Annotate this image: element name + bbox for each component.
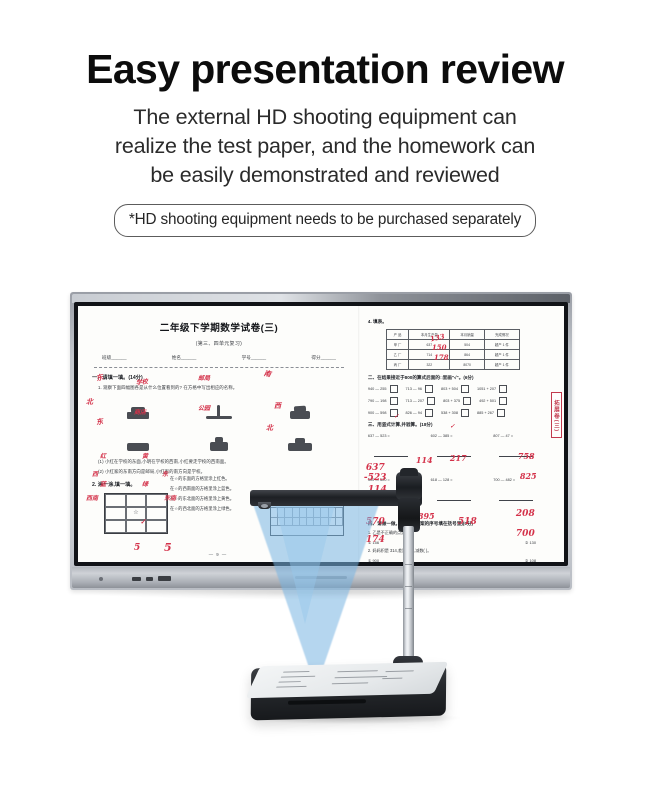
page-title: Easy presentation review: [0, 48, 650, 91]
camera-telescoping-pole[interactable]: [403, 526, 414, 664]
disclaimer-wrap: *HD shooting equipment needs to be purch…: [0, 204, 650, 237]
subtitle-line-3: be easily demonstrated and reviewed: [90, 161, 560, 190]
subtitle-block: The external HD shooting equipment can r…: [90, 103, 560, 189]
sheet-writing: [263, 664, 427, 694]
disclaimer-note: *HD shooting equipment needs to be purch…: [114, 204, 536, 237]
header-block: Easy presentation review The external HD…: [0, 0, 650, 237]
scanner-light-core: [275, 504, 335, 624]
camera-head: [396, 472, 422, 500]
pole-tick: [405, 564, 412, 565]
hd-document-camera: [0, 268, 650, 748]
camera-lens-icon: [258, 502, 271, 509]
pole-tick: [405, 608, 412, 609]
product-scene: 二年级下学期数学试卷(三) (第三、四单元复习) 班级______ 姓名____…: [0, 268, 650, 748]
subtitle-line-2: realize the test paper, and the homework…: [90, 132, 560, 161]
subtitle-line-1: The external HD shooting equipment can: [90, 103, 560, 132]
pole-tick: [405, 586, 412, 587]
promo-page: Easy presentation review The external HD…: [0, 0, 650, 788]
